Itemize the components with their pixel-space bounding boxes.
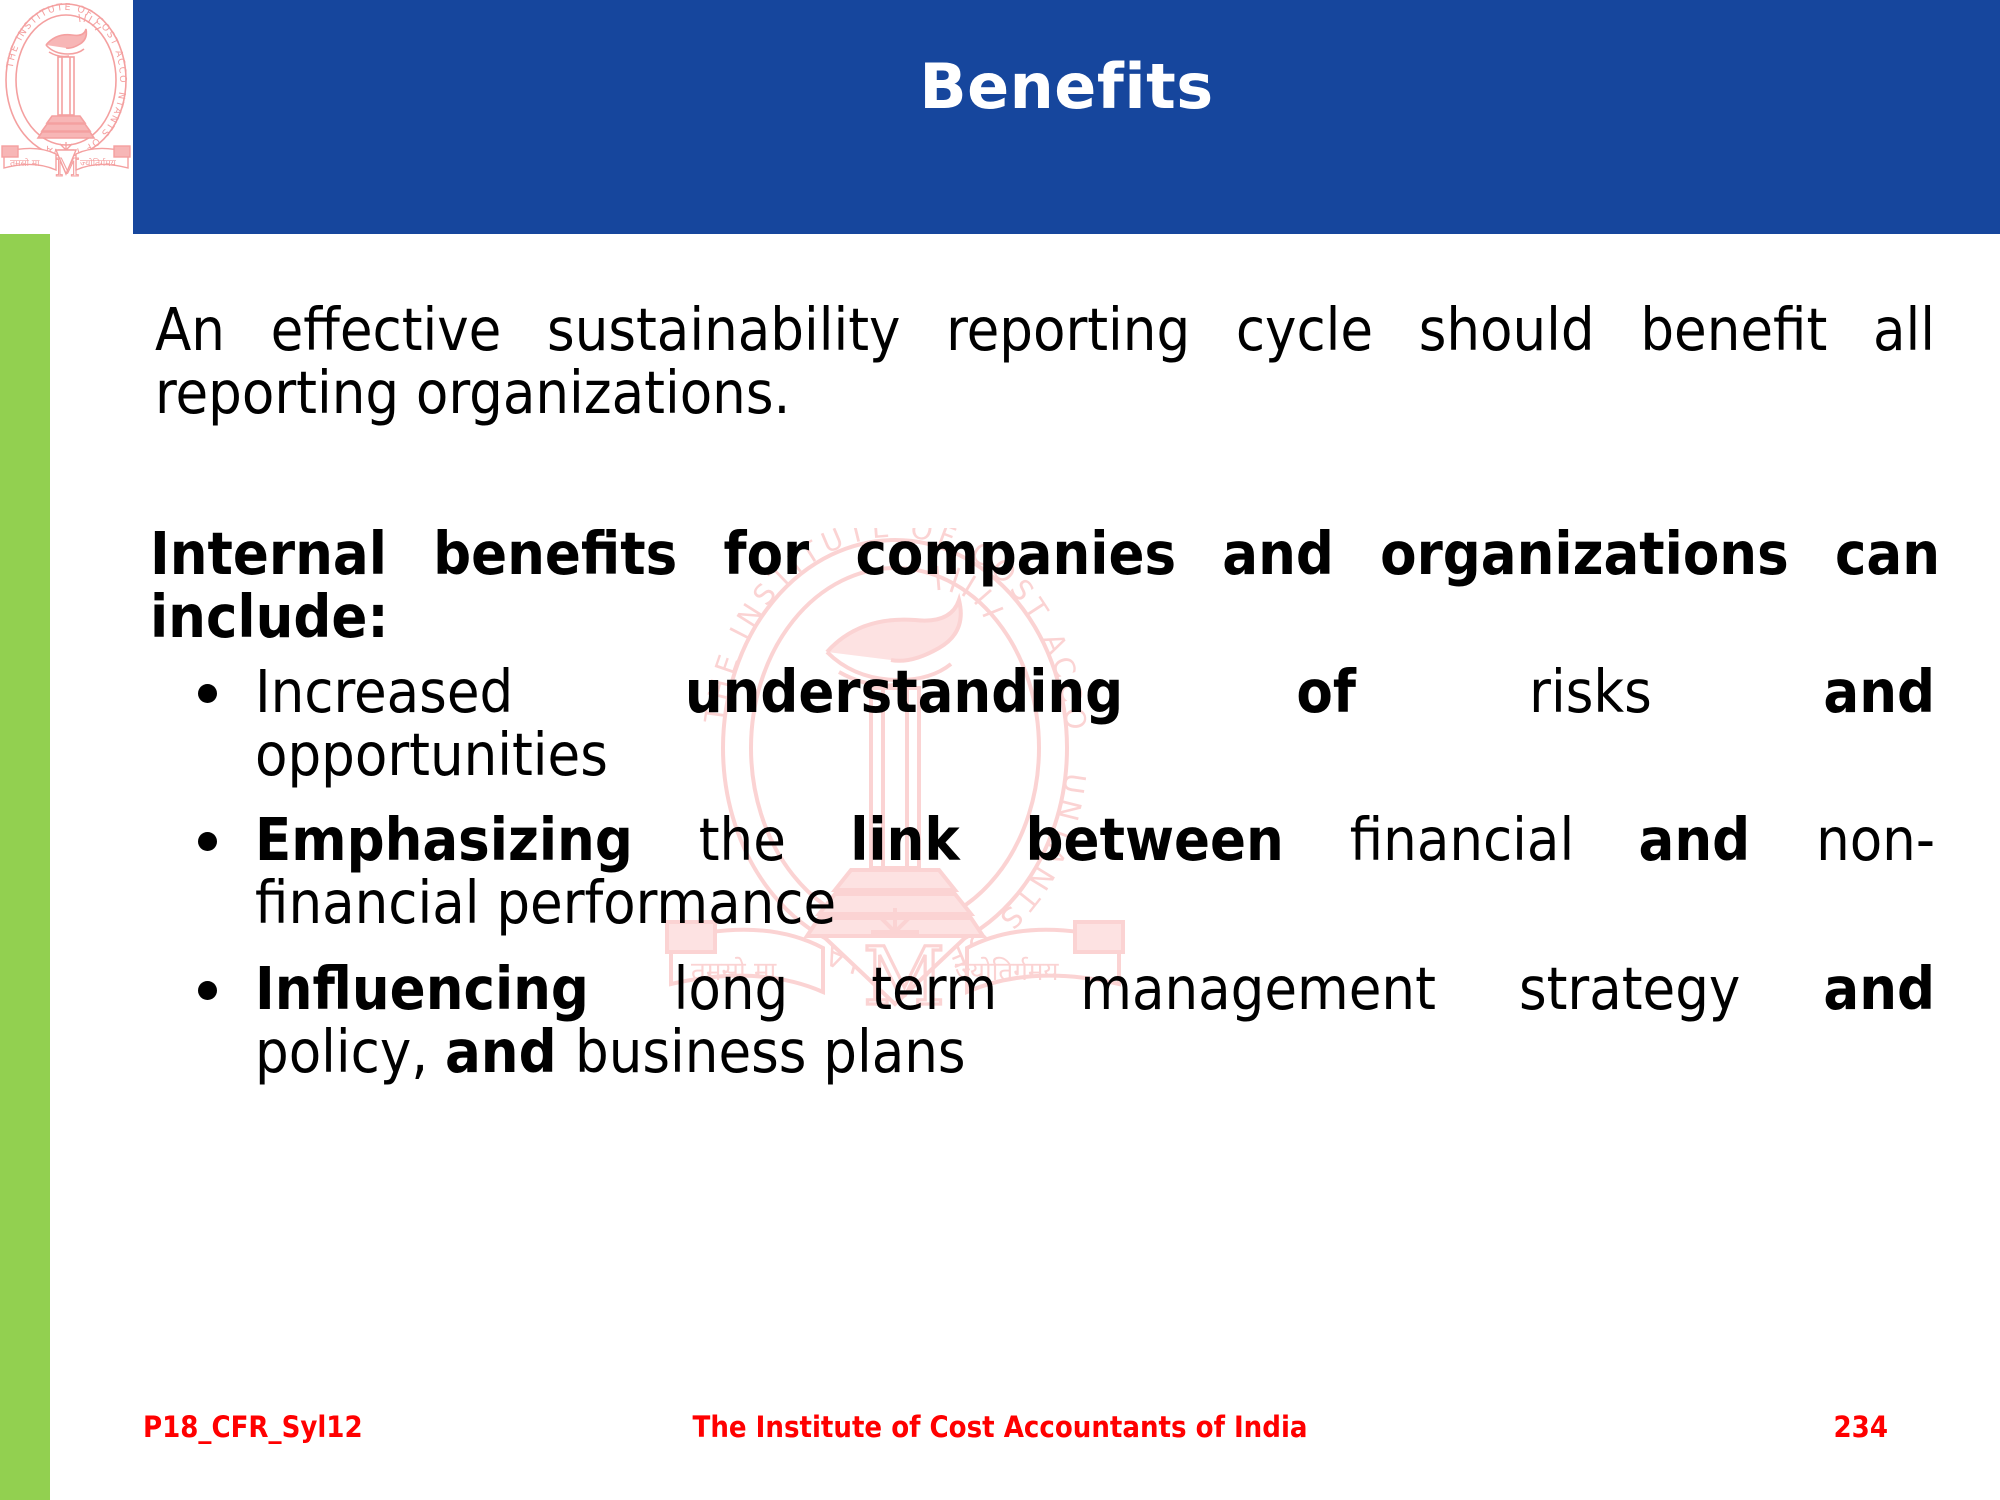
svg-text:ज्योतिर्गमय: ज्योतिर्गमय [80,157,117,169]
bullet-item: Influencing long term management strateg… [100,957,1935,1083]
page-number: 234 [1834,1410,1888,1444]
bold-text: link between [850,805,1350,874]
lead-paragraph: An effective sustainability reporting cy… [155,298,1935,424]
presentation-slide: Benefits [0,0,2000,1500]
slide-header-band: Benefits [133,0,2000,234]
bullet-dot-icon [198,981,217,1000]
bullet-item: Emphasizing the link between financial a… [100,808,1935,934]
bullet-line-2: financial performance [255,871,1935,934]
bold-text: Influencing [255,954,674,1023]
page-title: Benefits [133,56,2000,118]
svg-text:तमसो मा: तमसो मा [10,157,40,169]
plain-text: Increased [255,657,685,726]
svg-text:M: M [55,154,80,182]
lead-paragraph-line-1: An effective sustainability reporting cy… [155,295,1595,364]
bold-text: and [445,1017,575,1086]
bullet-line-1: Influencing long term management strateg… [255,957,1935,1020]
footer-institute: The Institute of Cost Accountants of Ind… [0,1410,2000,1444]
heading-paragraph: Internal benefits for companies and orga… [150,522,1940,648]
bullet-line-1: Emphasizing the link between financial a… [255,808,1935,871]
plain-text: risks [1529,657,1823,726]
bullet-item: Increased understanding of risks andoppo… [100,660,1935,786]
icai-institute-logo-icon: THE INSTITUTE OF COST ACCOU NTANTS OF IN… [0,0,133,182]
bold-text: and [1823,954,1935,1023]
plain-text: long term management strategy [674,954,1824,1023]
bullet-dot-icon [198,832,217,851]
bullet-line-2: policy, and business plans [255,1020,1935,1083]
plain-text: policy, [255,1017,445,1086]
plain-text: business plans [575,1017,966,1086]
plain-text: opportunities [255,720,608,789]
plain-text: financial performance [255,868,836,937]
left-green-accent-bar [0,234,50,1500]
plain-text: the [699,805,850,874]
slide-body: An effective sustainability reporting cy… [100,270,1935,1350]
bullet-line-1: Increased understanding of risks and [255,660,1935,723]
bullet-dot-icon [198,684,217,703]
heading-paragraph-line-1: Internal benefits for companies and orga… [150,519,1789,588]
plain-text: non- [1816,805,1935,874]
bold-text: and [1823,657,1935,726]
bold-text: Emphasizing [255,805,699,874]
bold-text: and [1639,805,1817,874]
bullet-line-2: opportunities [255,723,1935,786]
bullet-list: Increased understanding of risks andoppo… [100,660,1935,1105]
slide-footer: P18_CFR_Syl12 The Institute of Cost Acco… [0,1410,2000,1470]
bold-text: understanding of [685,657,1529,726]
plain-text: financial [1350,805,1639,874]
